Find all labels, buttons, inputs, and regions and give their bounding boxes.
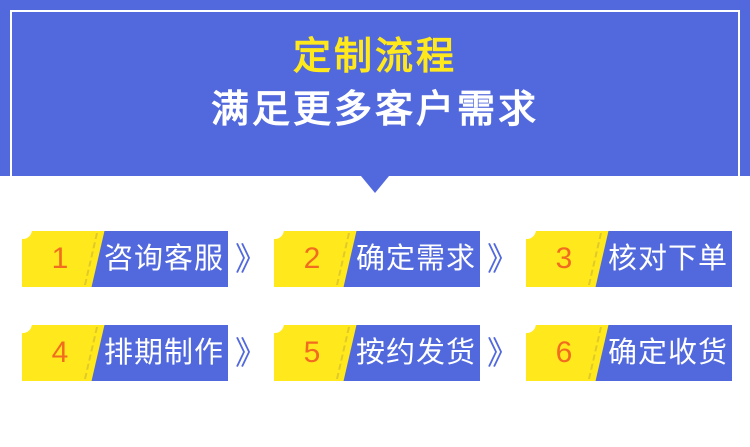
header-banner: 定制流程 满足更多客户需求 [0,0,750,176]
step-tab-dashed-line [336,233,350,285]
step-number: 1 [40,231,80,287]
step-tab-dashed-line [84,233,98,285]
step-box-3[interactable]: 3 核对下单 [526,231,732,287]
page-subtitle: 满足更多客户需求 [211,87,539,135]
step-number: 2 [292,231,332,287]
banner-text-block: 定制流程 满足更多客户需求 [0,0,750,176]
step-row: 4 排期制作 》 5 按约发货 》 6 确定收货 [0,322,750,384]
double-chevron-right-icon: 》 [480,231,526,287]
step-tab-notch [526,325,536,333]
step-label: 核对下单 [604,231,732,287]
step-tab-notch [22,325,32,333]
double-chevron-right-icon: 》 [228,325,274,381]
step-number: 5 [292,325,332,381]
process-steps: 1 咨询客服 》 2 确定需求 》 3 核对下单 [0,218,750,408]
step-box-6[interactable]: 6 确定收货 [526,325,732,381]
step-number: 4 [40,325,80,381]
double-chevron-right-icon: 》 [228,231,274,287]
step-label: 咨询客服 [100,231,228,287]
step-tab-dashed-line [588,233,602,285]
step-tab-dashed-line [336,327,350,379]
page-title: 定制流程 [293,34,457,82]
step-number: 6 [544,325,584,381]
step-tab-dashed-line [84,327,98,379]
double-chevron-right-icon: 》 [480,325,526,381]
step-label: 确定需求 [352,231,480,287]
step-box-5[interactable]: 5 按约发货 [274,325,480,381]
step-label: 确定收货 [604,325,732,381]
triangle-down-icon [361,176,389,193]
step-box-1[interactable]: 1 咨询客服 [22,231,228,287]
step-tab-dashed-line [588,327,602,379]
step-box-4[interactable]: 4 排期制作 [22,325,228,381]
step-tab-notch [274,231,284,239]
step-row: 1 咨询客服 》 2 确定需求 》 3 核对下单 [0,228,750,290]
step-label: 排期制作 [100,325,228,381]
step-tab-notch [526,231,536,239]
step-label: 按约发货 [352,325,480,381]
step-tab-notch [22,231,32,239]
step-tab-notch [274,325,284,333]
step-number: 3 [544,231,584,287]
step-box-2[interactable]: 2 确定需求 [274,231,480,287]
